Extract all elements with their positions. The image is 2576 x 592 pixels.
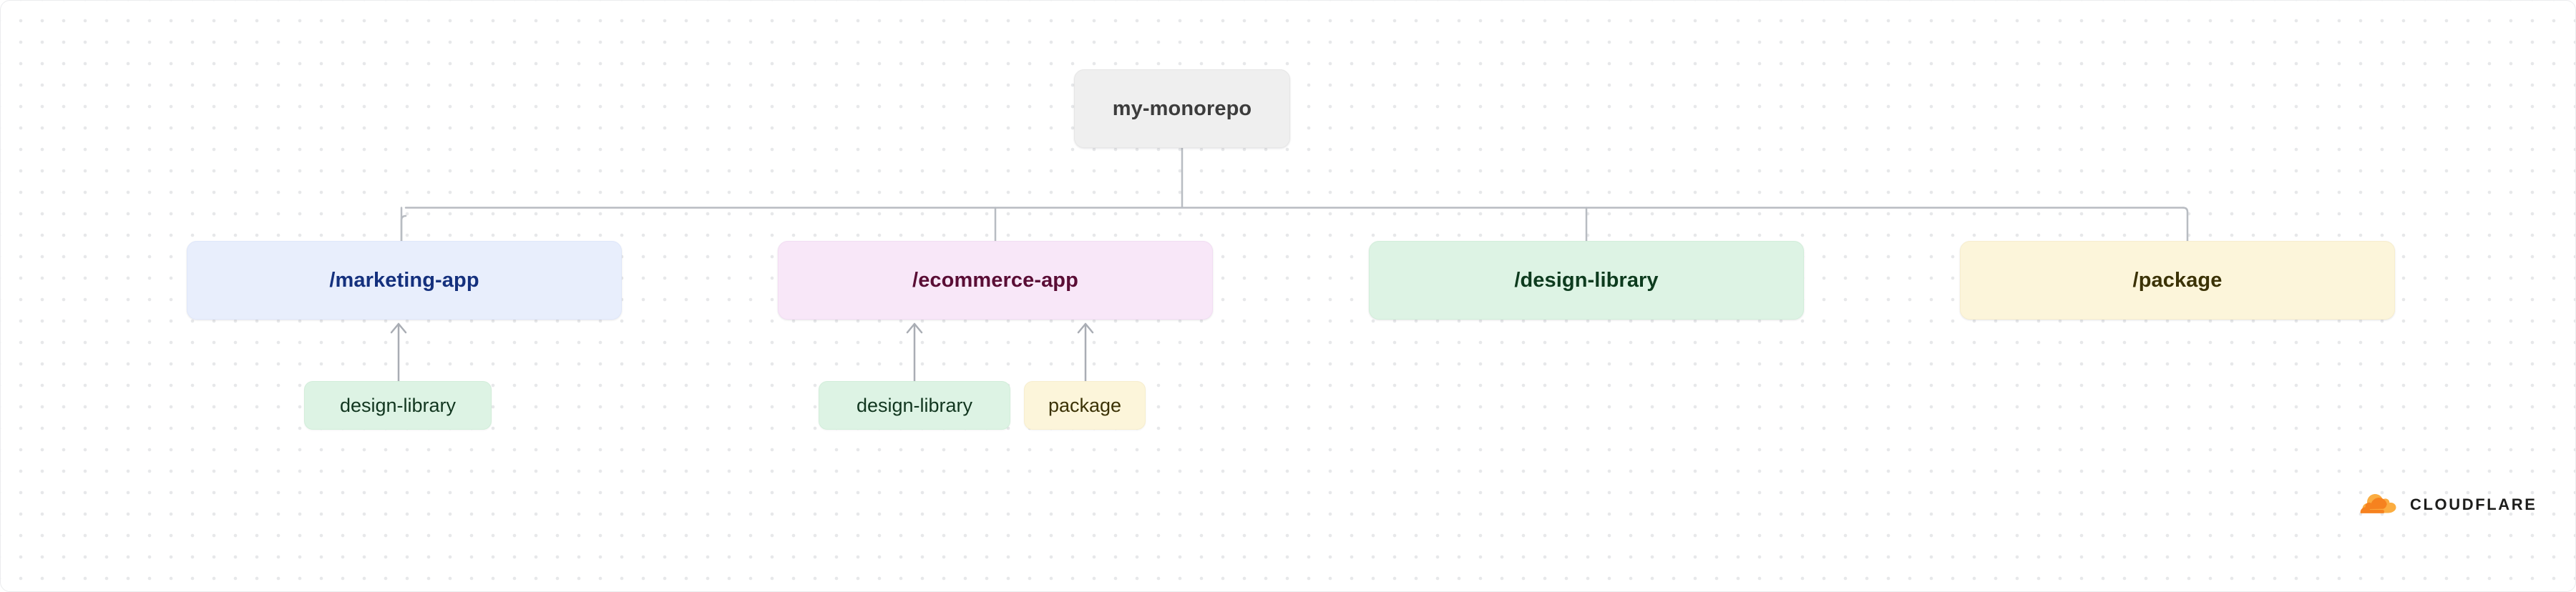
edge-bus-left-drop: [401, 216, 406, 241]
dependency-tag-label: design-library: [857, 395, 972, 417]
cloudflare-wordmark: CLOUDFLARE: [2410, 497, 2537, 513]
node-package[interactable]: /package: [1960, 241, 2395, 320]
dependency-tag-ecommerce-design-library[interactable]: design-library: [819, 381, 1010, 430]
edge-bus-right-drop: [2183, 208, 2187, 242]
node-label: /ecommerce-app: [912, 269, 1078, 292]
node-ecommerce-app[interactable]: /ecommerce-app: [778, 241, 1213, 320]
node-label: /package: [2133, 269, 2223, 292]
dependency-tag-label: design-library: [340, 395, 456, 417]
node-label: /design-library: [1514, 269, 1658, 292]
node-marketing-app[interactable]: /marketing-app: [187, 241, 622, 320]
cloudflare-cloud-icon: [2356, 494, 2402, 515]
cloudflare-logo: CLOUDFLARE: [2356, 494, 2537, 515]
arrowhead-ecommerce-package: [1078, 324, 1093, 332]
arrowhead-marketing-design-library: [391, 324, 406, 332]
node-label: my-monorepo: [1113, 97, 1252, 121]
node-design-library[interactable]: /design-library: [1369, 241, 1804, 320]
arrowhead-ecommerce-design-library: [907, 324, 922, 332]
dependency-tag-ecommerce-package[interactable]: package: [1024, 381, 1146, 430]
node-my-monorepo[interactable]: my-monorepo: [1074, 69, 1290, 148]
diagram-canvas: my-monorepo /marketing-app /ecommerce-ap…: [0, 0, 2576, 592]
dependency-tag-marketing-design-library[interactable]: design-library: [304, 381, 492, 430]
node-label: /marketing-app: [329, 269, 479, 292]
dependency-tag-label: package: [1048, 395, 1121, 417]
